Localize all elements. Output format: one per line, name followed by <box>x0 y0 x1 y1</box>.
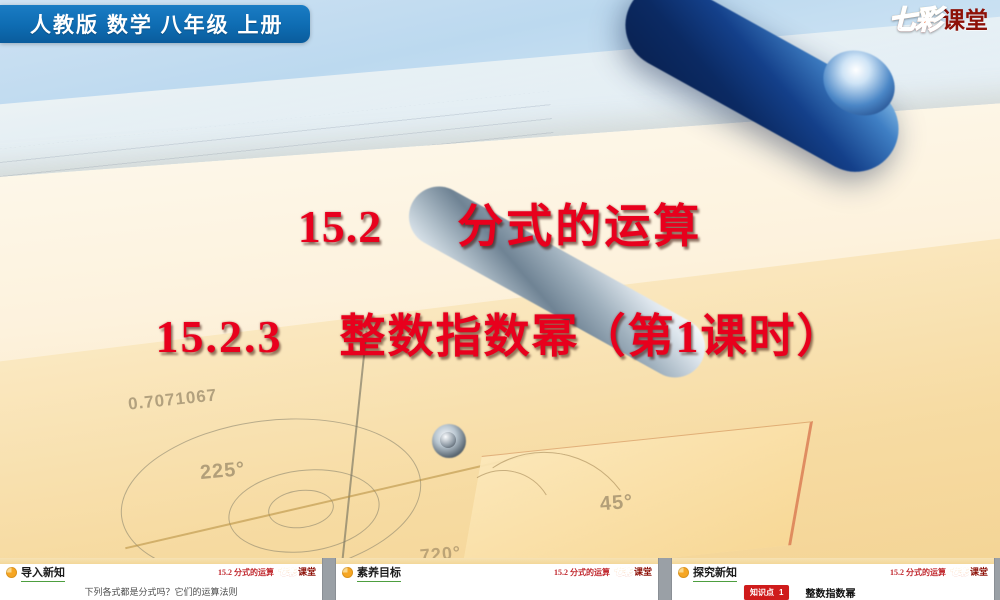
page-title-number: 15.2 <box>298 201 383 252</box>
thumbnail-brand-classroom: 课堂 <box>634 568 652 577</box>
pen-tip-ball <box>440 432 456 448</box>
page-title: 15.2 分式的运算 <box>0 190 1000 256</box>
thumbnail-header-right: 15.2 分式的运算 七彩 课堂 <box>890 567 988 578</box>
brand-logo-classroom-text: 课堂 <box>942 9 988 32</box>
thumbnail-brand-colorful: 七彩 <box>949 567 969 578</box>
thumbnail-brand-logo: 七彩 课堂 <box>613 567 652 578</box>
thumbnail-section-title: 导入新知 <box>21 564 65 582</box>
page-subtitle: 15.2.3 整数指数幂（第1课时） <box>0 300 1000 366</box>
thumbnail-body-text: 下列各式都是分式吗？它们的运算法则 <box>8 585 314 598</box>
thumbnail-chapter-label: 15.2 分式的运算 <box>554 567 610 578</box>
page-subtitle-number: 15.2.3 <box>156 311 283 362</box>
slide-canvas: 0.7071067 225° 45° 720° 人教版 数学 八年级 上册 七彩… <box>0 0 1000 600</box>
filmstrip-slide-thumbnail[interactable]: 导入新知 15.2 分式的运算 七彩 课堂 下列各式都是分式吗？它们的运算法则 <box>0 558 322 600</box>
knowledge-point-number: 1 <box>779 588 783 597</box>
knowledge-point-title: 整数指数幂 <box>805 585 855 600</box>
thumbnail-section-title: 探究新知 <box>693 564 737 582</box>
background-photo: 0.7071067 225° 45° 720° <box>0 0 1000 558</box>
thumbnail-brand-classroom: 课堂 <box>970 568 988 577</box>
thumbnail-body: 下列各式都是分式吗？它们的运算法则 <box>0 583 322 600</box>
pie-chart-icon <box>6 567 17 578</box>
thumbnail-header-right: 15.2 分式的运算 七彩 课堂 <box>554 567 652 578</box>
filmstrip-slide-thumbnail[interactable]: 探究新知 15.2 分式的运算 七彩 课堂 知识点 1 整数指数幂 <box>672 558 994 600</box>
thumbnail-brand-colorful: 七彩 <box>613 567 633 578</box>
thumbnail-brand-logo: 七彩 课堂 <box>277 567 316 578</box>
thumbnail-header: 素养目标 15.2 分式的运算 七彩 课堂 <box>336 564 658 581</box>
thumbnail-header: 导入新知 15.2 分式的运算 七彩 课堂 <box>0 564 322 581</box>
brand-logo-colorful-text: 七彩 <box>889 7 941 34</box>
photo-annotation-angle-225: 225° <box>199 458 246 485</box>
photo-annotation-angle-720: 720° <box>419 542 462 558</box>
photo-annotation-angle-45: 45° <box>599 491 634 517</box>
thumbnail-header: 探究新知 15.2 分式的运算 七彩 课堂 <box>672 564 994 581</box>
thumbnail-header-right: 15.2 分式的运算 七彩 课堂 <box>218 567 316 578</box>
thumbnail-body <box>336 583 658 600</box>
thumbnail-section-title: 素养目标 <box>357 564 401 582</box>
textbook-header-label: 人教版 数学 八年级 上册 <box>30 9 284 39</box>
knowledge-point-row: 知识点 1 整数指数幂 <box>680 585 986 600</box>
pie-chart-icon <box>678 567 689 578</box>
thumbnail-brand-colorful: 七彩 <box>277 567 297 578</box>
knowledge-point-label: 知识点 <box>750 587 774 598</box>
knowledge-point-badge: 知识点 1 <box>744 585 789 600</box>
thumbnail-brand-logo: 七彩 课堂 <box>949 567 988 578</box>
page-subtitle-text: 整数指数幂（第1课时） <box>340 311 845 362</box>
textbook-header-bar: 人教版 数学 八年级 上册 <box>0 5 310 43</box>
pie-chart-icon <box>342 567 353 578</box>
thumbnail-brand-classroom: 课堂 <box>298 568 316 577</box>
thumbnail-body: 知识点 1 整数指数幂 <box>672 583 994 600</box>
thumbnail-chapter-label: 15.2 分式的运算 <box>218 567 274 578</box>
brand-logo: 七彩 课堂 <box>883 4 994 37</box>
page-title-text: 分式的运算 <box>457 201 702 252</box>
filmstrip-slide-thumbnail[interactable]: 素养目标 15.2 分式的运算 七彩 课堂 <box>336 558 658 600</box>
thumbnail-chapter-label: 15.2 分式的运算 <box>890 567 946 578</box>
slide-filmstrip[interactable]: 导入新知 15.2 分式的运算 七彩 课堂 下列各式都是分式吗？它们的运算法则 … <box>0 558 1000 600</box>
